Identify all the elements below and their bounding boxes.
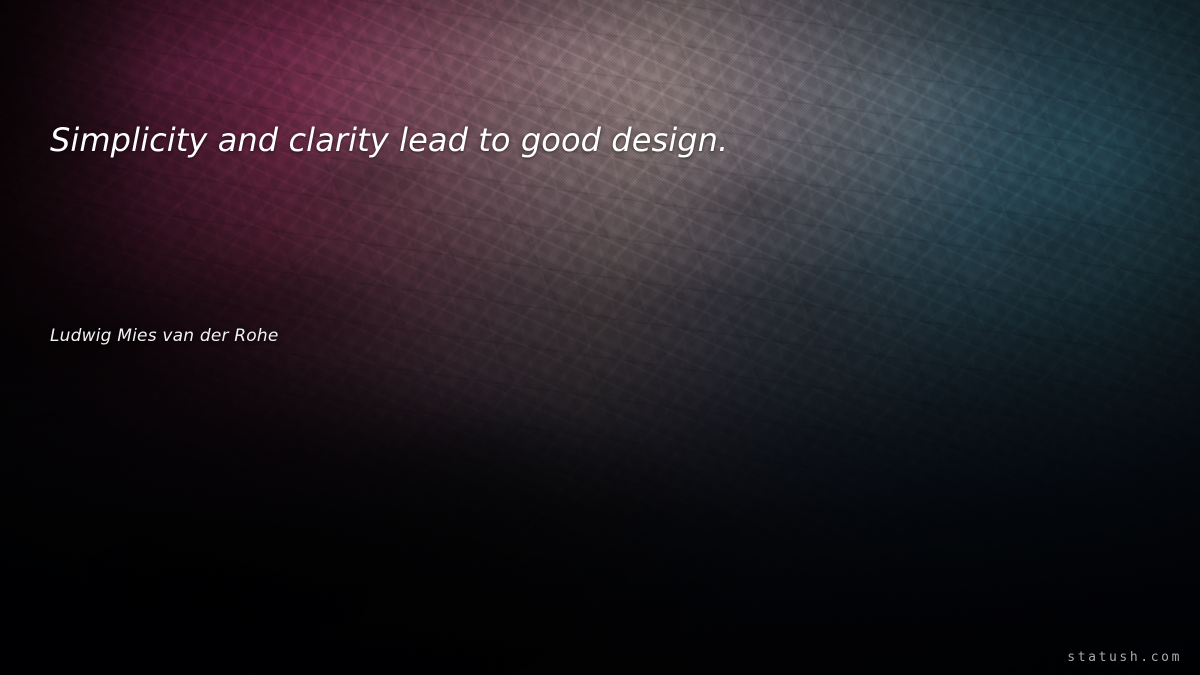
quote-card: Simplicity and clarity lead to good desi…	[0, 0, 1200, 675]
quote-content: Simplicity and clarity lead to good desi…	[0, 0, 1200, 675]
quote-author: Ludwig Mies van der Rohe	[50, 325, 279, 347]
site-watermark: statush.com	[1067, 650, 1182, 665]
quote-text: Simplicity and clarity lead to good desi…	[50, 120, 1150, 160]
